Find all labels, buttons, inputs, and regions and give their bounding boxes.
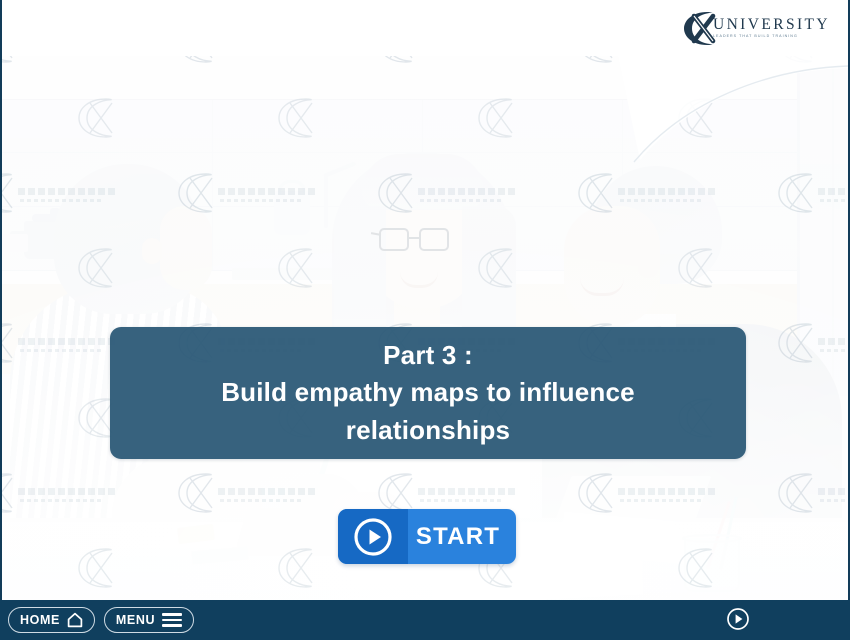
header-bar: UNIVERSITY LEADERS THAT BUILD TRAINING xyxy=(2,0,848,56)
title-line-3: relationships xyxy=(221,412,635,449)
course-slide: UNIVERSITY LEADERS THAT BUILD TRAINING xyxy=(0,0,850,640)
home-button-label: HOME xyxy=(20,613,60,627)
menu-button-label: MENU xyxy=(116,613,155,627)
home-icon xyxy=(67,612,83,628)
frame-edge-left xyxy=(0,0,2,600)
slide-content: Part 3 : Build empathy maps to influence… xyxy=(2,56,848,600)
start-button-label: START xyxy=(408,523,516,551)
start-icon-pane[interactable] xyxy=(338,509,408,564)
start-button[interactable]: START xyxy=(338,509,516,564)
logo-tagline: LEADERS THAT BUILD TRAINING xyxy=(713,35,798,39)
logo-name: UNIVERSITY xyxy=(713,17,830,33)
page-title: Part 3 : Build empathy maps to influence… xyxy=(205,337,651,449)
slide-title-card: Part 3 : Build empathy maps to influence… xyxy=(110,327,746,459)
home-button[interactable]: HOME xyxy=(8,607,95,633)
logo-wordmark: UNIVERSITY LEADERS THAT BUILD TRAINING xyxy=(713,17,830,39)
menu-button[interactable]: MENU xyxy=(104,607,194,633)
title-line-1: Part 3 : xyxy=(221,337,635,374)
play-button[interactable] xyxy=(726,607,750,631)
play-circle-icon xyxy=(726,607,750,631)
bottom-navigation-bar: HOME MENU xyxy=(0,600,850,640)
hamburger-icon xyxy=(162,613,182,627)
university-logo: UNIVERSITY LEADERS THAT BUILD TRAINING xyxy=(712,8,830,48)
title-line-2: Build empathy maps to influence xyxy=(221,374,635,411)
play-circle-icon xyxy=(352,516,394,558)
